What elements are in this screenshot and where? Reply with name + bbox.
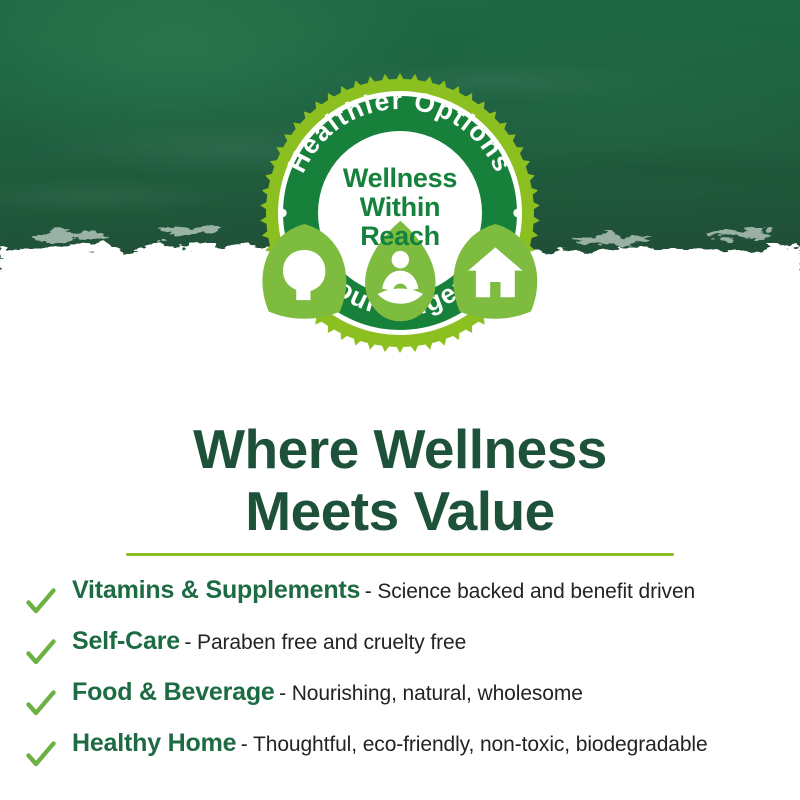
benefit-description: - Paraben free and cruelty free <box>184 631 466 654</box>
seal-inner-line-3: Reach <box>259 222 541 251</box>
promo-poster: Healthier Options At Your Fingertips <box>0 0 800 800</box>
check-wrap <box>26 740 72 770</box>
benefit-title: Healthy Home <box>72 729 236 757</box>
check-wrap <box>26 689 72 719</box>
benefit-title: Food & Beverage <box>72 678 275 706</box>
benefit-description: - Thoughtful, eco-friendly, non-toxic, b… <box>241 733 708 756</box>
checkmark-icon <box>26 689 56 719</box>
checkmark-icon <box>26 740 56 770</box>
seal-inner-line-2: Within <box>259 193 541 222</box>
benefit-title: Self-Care <box>72 627 180 655</box>
seal-inner-text: Wellness Within Reach <box>259 164 541 251</box>
benefit-description: - Nourishing, natural, wholesome <box>279 682 583 705</box>
list-item: Healthy Home - Thoughtful, eco-friendly,… <box>26 729 786 780</box>
page-title: Where Wellness Meets Value <box>0 418 800 542</box>
wellness-seal-badge: Healthier Options At Your Fingertips <box>259 72 541 354</box>
list-item: Food & Beverage - Nourishing, natural, w… <box>26 678 786 729</box>
benefit-description: - Science backed and benefit driven <box>365 580 695 603</box>
divider-rule <box>126 553 674 556</box>
checkmark-icon <box>26 587 56 617</box>
headline-line-2: Meets Value <box>0 480 800 542</box>
check-wrap <box>26 638 72 668</box>
benefit-list: Vitamins & Supplements - Science backed … <box>26 576 786 780</box>
benefit-title: Vitamins & Supplements <box>72 576 360 604</box>
check-wrap <box>26 587 72 617</box>
checkmark-icon <box>26 638 56 668</box>
headline-line-1: Where Wellness <box>0 418 800 480</box>
list-item: Self-Care - Paraben free and cruelty fre… <box>26 627 786 678</box>
seal-inner-line-1: Wellness <box>259 164 541 193</box>
list-item: Vitamins & Supplements - Science backed … <box>26 576 786 627</box>
